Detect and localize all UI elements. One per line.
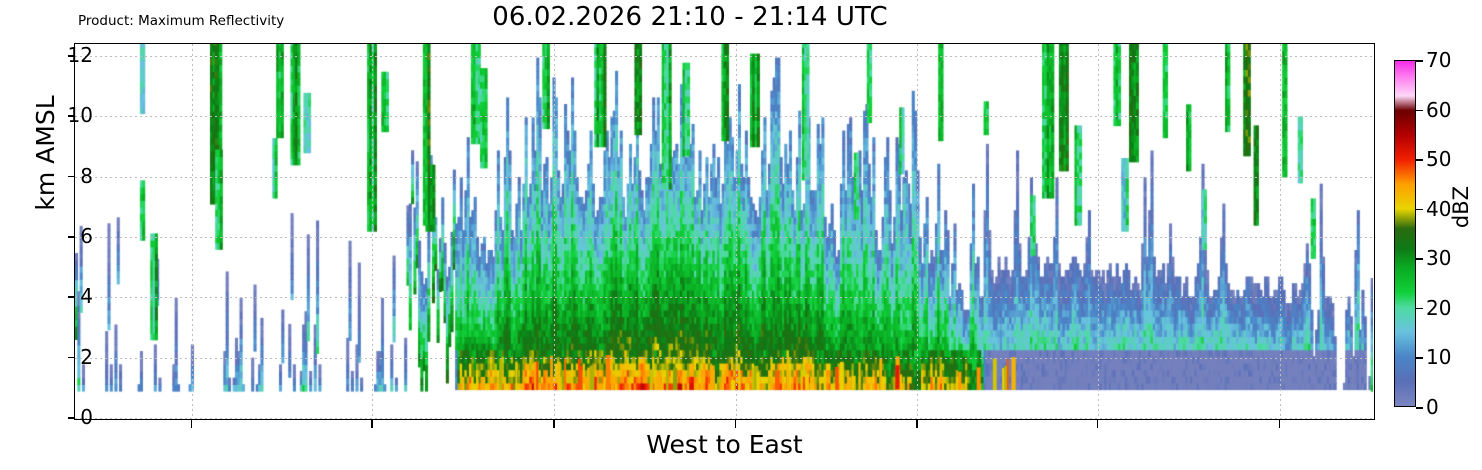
x-axis-tick	[553, 420, 555, 428]
gridline-horizontal	[75, 56, 1374, 57]
y-axis-tick	[68, 176, 75, 178]
y-axis-tick	[68, 417, 75, 419]
colorbar-tick	[1416, 209, 1423, 211]
gridline-vertical	[917, 44, 918, 419]
product-label: Product: Maximum Reflectivity	[78, 13, 284, 29]
y-axis-tick-label: 8	[80, 166, 93, 186]
colorbar-tick	[1416, 159, 1423, 161]
gridline-vertical	[1280, 44, 1281, 419]
gridline-vertical	[736, 44, 737, 419]
y-axis-tick	[68, 236, 75, 238]
y-axis-tick	[68, 357, 75, 359]
colorbar	[1394, 60, 1416, 407]
gridline-vertical	[554, 44, 555, 419]
gridline-vertical	[1098, 44, 1099, 419]
x-axis-tick	[916, 420, 918, 428]
gridline-vertical	[192, 44, 193, 419]
colorbar-tick-label: 0	[1426, 397, 1439, 417]
colorbar-tick-label: 60	[1426, 100, 1451, 120]
colorbar-tick	[1416, 357, 1423, 359]
radar-cross-section-figure: 06.02.2026 21:10 - 21:14 UTC Product: Ma…	[0, 0, 1482, 470]
plot-area	[74, 43, 1375, 420]
y-axis-tick-label: 0	[80, 407, 93, 427]
colorbar-tick	[1416, 110, 1423, 112]
gridline-horizontal	[75, 358, 1374, 359]
colorbar-tick	[1416, 60, 1423, 62]
x-axis-tick	[1097, 420, 1099, 428]
gridline-horizontal	[75, 116, 1374, 117]
y-axis-label: km AMSL	[33, 43, 59, 263]
colorbar-tick-label: 50	[1426, 149, 1451, 169]
x-axis-tick	[1279, 420, 1281, 428]
y-axis-tick-label: 2	[80, 347, 93, 367]
y-axis-tick-label: 10	[68, 105, 93, 125]
colorbar-tick-label: 20	[1426, 298, 1451, 318]
x-axis-label: West to East	[74, 430, 1375, 460]
y-axis-tick	[68, 296, 75, 298]
gridline-horizontal	[75, 177, 1374, 178]
gridline-vertical	[372, 44, 373, 419]
colorbar-gradient	[1395, 61, 1415, 406]
x-axis-tick	[371, 420, 373, 428]
x-axis-tick	[735, 420, 737, 428]
colorbar-title: dBZ	[1450, 162, 1472, 252]
x-axis-tick	[191, 420, 193, 428]
gridline-horizontal	[75, 418, 1374, 419]
colorbar-tick-label: 40	[1426, 199, 1451, 219]
y-axis-tick-label: 12	[68, 45, 93, 65]
gridline-horizontal	[75, 297, 1374, 298]
gridline-horizontal	[75, 237, 1374, 238]
y-axis-tick-label: 6	[80, 226, 93, 246]
reflectivity-heatmap	[75, 44, 1373, 418]
colorbar-tick-label: 10	[1426, 347, 1451, 367]
y-axis-tick-label: 4	[80, 286, 93, 306]
colorbar-tick-label: 30	[1426, 248, 1451, 268]
colorbar-tick	[1416, 407, 1423, 409]
colorbar-tick	[1416, 258, 1423, 260]
colorbar-tick-label: 70	[1426, 50, 1451, 70]
colorbar-tick	[1416, 308, 1423, 310]
